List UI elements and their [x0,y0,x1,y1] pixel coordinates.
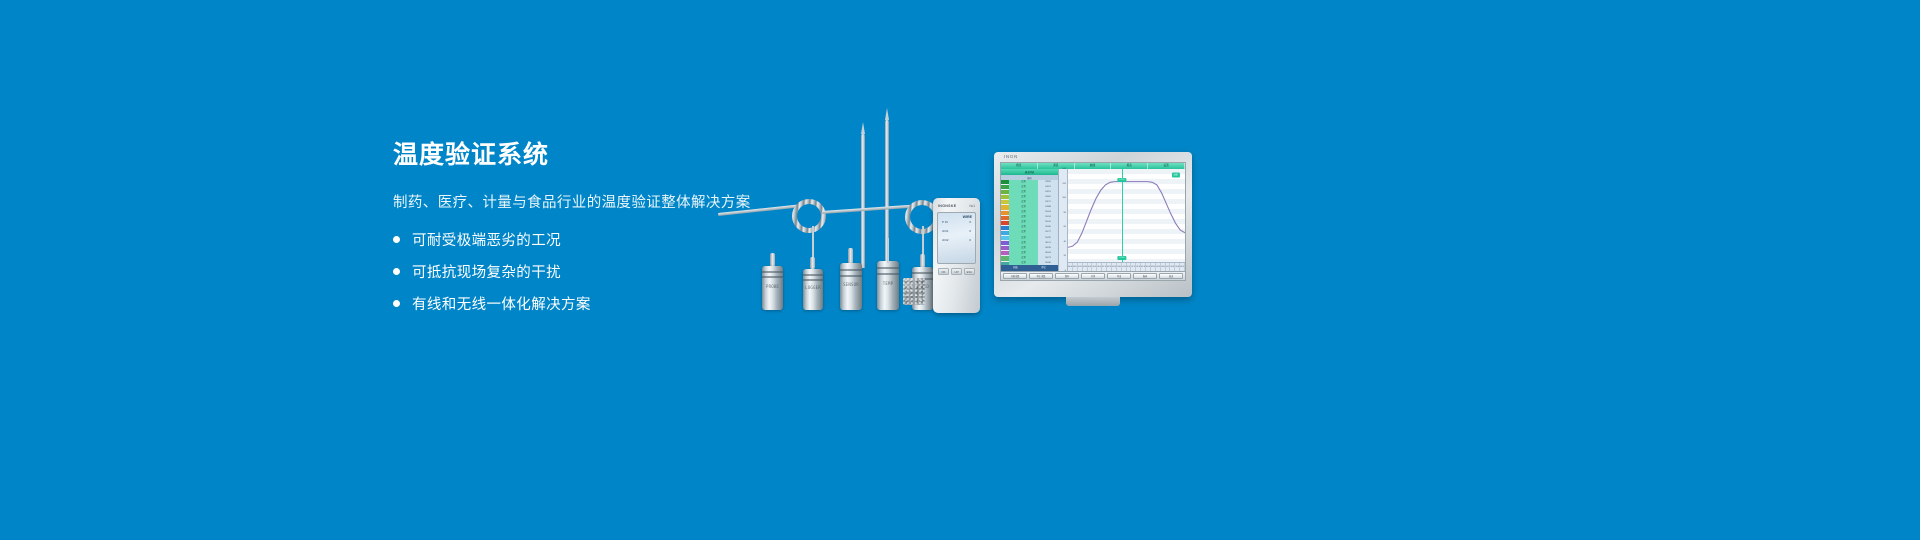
data-logger-cylinder: PROBE [762,266,783,310]
monitor-brand: INON [1004,154,1018,159]
chart-y-tick: 0 [1065,270,1066,272]
logger-label: LOGGER [805,285,821,290]
channel-color-swatch [1001,231,1009,235]
data-logger-cylinder: SENSOR [840,263,862,310]
chart-annotation: 121.0 [1117,256,1126,260]
chart-annotation: 灭菌 [1172,172,1180,177]
handheld-key-up[interactable]: UP [951,268,962,275]
handheld-key-ok[interactable]: OK [938,268,949,275]
channel-color-swatch [1001,251,1009,255]
coil-probe-icon [792,199,826,233]
logger-neck [920,254,925,268]
monitor-toolbar: 开始采集停止采集保存打印导出报表退出 [1001,271,1185,280]
monitor-toolbar-button[interactable]: 保存 [1055,273,1079,279]
probe-tail [718,205,798,216]
handheld-model: №1 [969,204,975,208]
channel-color-swatch [1001,190,1009,194]
chart-y-tick: 20 [1064,255,1066,257]
channel-color-swatch [1001,195,1009,199]
monitor-stand [1066,297,1120,306]
chart-y-tick: 100 [1062,197,1066,199]
handheld-screen: WIRE P IN 0 ch01 0 ch02 0 [937,212,976,264]
channel-table-rows[interactable]: 正常23.81正常24.07正常24.15正常24.62正常24.71正常24.… [1001,180,1058,265]
validation-monitor[interactable]: INON 概览 通道 曲线 报表 设置 通道列表 编号 正常23.81正常24.… [994,152,1192,297]
channel-color-swatch [1001,226,1009,230]
chart-y-tick: 60 [1064,226,1066,228]
channel-color-swatch [1001,221,1009,225]
monitor-toolbar-button[interactable]: 开始采集 [1003,273,1027,279]
handheld-row-value: 0 [969,238,971,242]
chart-y-tick: 120 [1062,183,1066,185]
chart-y-tick: 40 [1064,241,1066,243]
monitor-toolbar-button[interactable]: 导出 [1107,273,1131,279]
logger-label: TEMP [883,281,893,286]
handheld-screen-row: ch01 0 [940,229,973,233]
channel-table: 通道列表 编号 正常23.81正常24.07正常24.15正常24.62正常24… [1001,169,1059,271]
channel-color-swatch [1001,205,1009,209]
logger-neck [770,253,775,267]
feature-label: 可耐受极端恶劣的工况 [412,229,561,250]
handheld-key-esc[interactable]: ESC [964,268,975,275]
chart-y-tick: 80 [1064,212,1066,214]
logger-pin [887,238,889,263]
sintered-filter-cap [903,278,925,305]
handheld-row-label: ch01 [942,229,949,233]
chart-line-svg [1068,169,1185,262]
channel-color-swatch [1001,185,1009,189]
channel-color-swatch [1001,246,1009,250]
handheld-brand-row: INGNSKE №1 [936,202,977,210]
channel-color-swatch [1001,211,1009,215]
chart-plot-area: 121.0 121.0 灭菌 [1068,169,1185,262]
logger-neck [810,257,815,269]
logger-label: PROBE [766,284,779,289]
feature-label: 有线和无线一体化解决方案 [412,293,591,314]
handheld-row-label: ch02 [942,238,949,242]
logger-label: SENSOR [843,282,859,287]
handheld-row-value: 0 [969,220,971,224]
monitor-toolbar-button[interactable]: 退出 [1159,273,1183,279]
channel-color-swatch [1001,200,1009,204]
bullet-dot-icon [393,300,400,307]
monitor-screen: 概览 通道 曲线 报表 设置 通道列表 编号 正常23.81正常24.07正常2… [1000,162,1186,281]
chart-x-tick: 03:50 [1180,263,1185,271]
bullet-dot-icon [393,268,400,275]
handheld-screen-row: P IN 0 [940,220,973,224]
feature-label: 可抵抗现场复杂的干扰 [412,261,561,282]
logger-neck [848,248,853,264]
temperature-chart[interactable]: 140120100806040200 121.0 121.0 灭菌 00:000… [1059,169,1185,271]
needle-probe-icon [861,134,865,268]
data-logger-cylinder: LOGGER [803,269,823,310]
monitor-toolbar-button[interactable]: 打印 [1081,273,1105,279]
handheld-screen-value: WIRE [963,215,972,219]
handheld-keypad: OK UP ESC [936,268,977,275]
chart-y-axis: 140120100806040200 [1059,169,1068,271]
product-photo: PROBE LOGGER SENSOR TEMP VALID WIRE [700,120,1220,310]
data-logger-cylinder: TEMP [877,261,899,310]
chart-y-tick: 140 [1062,168,1066,170]
chart-annotation: 121.0 [1117,178,1126,182]
probe-tail [822,205,912,214]
chart-cursor[interactable] [1122,169,1123,262]
chart-x-axis: 00:0000:1000:2000:3000:4000:5001:0001:10… [1068,262,1185,271]
bullet-dot-icon [393,236,400,243]
handheld-reader[interactable]: INGNSKE №1 WIRE P IN 0 ch01 0 ch02 0 [933,198,980,313]
monitor-toolbar-button[interactable]: 停止采集 [1029,273,1053,279]
channel-color-swatch [1001,256,1009,260]
monitor-body: 通道列表 编号 正常23.81正常24.07正常24.15正常24.62正常24… [1001,169,1185,271]
channel-color-swatch [1001,216,1009,220]
handheld-row-label: P IN [942,220,948,224]
handheld-screen-row: ch02 0 [940,238,973,242]
hero-banner: 温度验证系统 制药、医疗、计量与食品行业的温度验证整体解决方案 可耐受极端恶劣的… [0,0,1920,540]
channel-color-swatch [1001,241,1009,245]
handheld-row-value: 0 [969,229,971,233]
handheld-brand: INGNSKE [938,204,956,208]
channel-color-swatch [1001,180,1009,184]
channel-color-swatch [1001,236,1009,240]
monitor-toolbar-button[interactable]: 报表 [1133,273,1157,279]
